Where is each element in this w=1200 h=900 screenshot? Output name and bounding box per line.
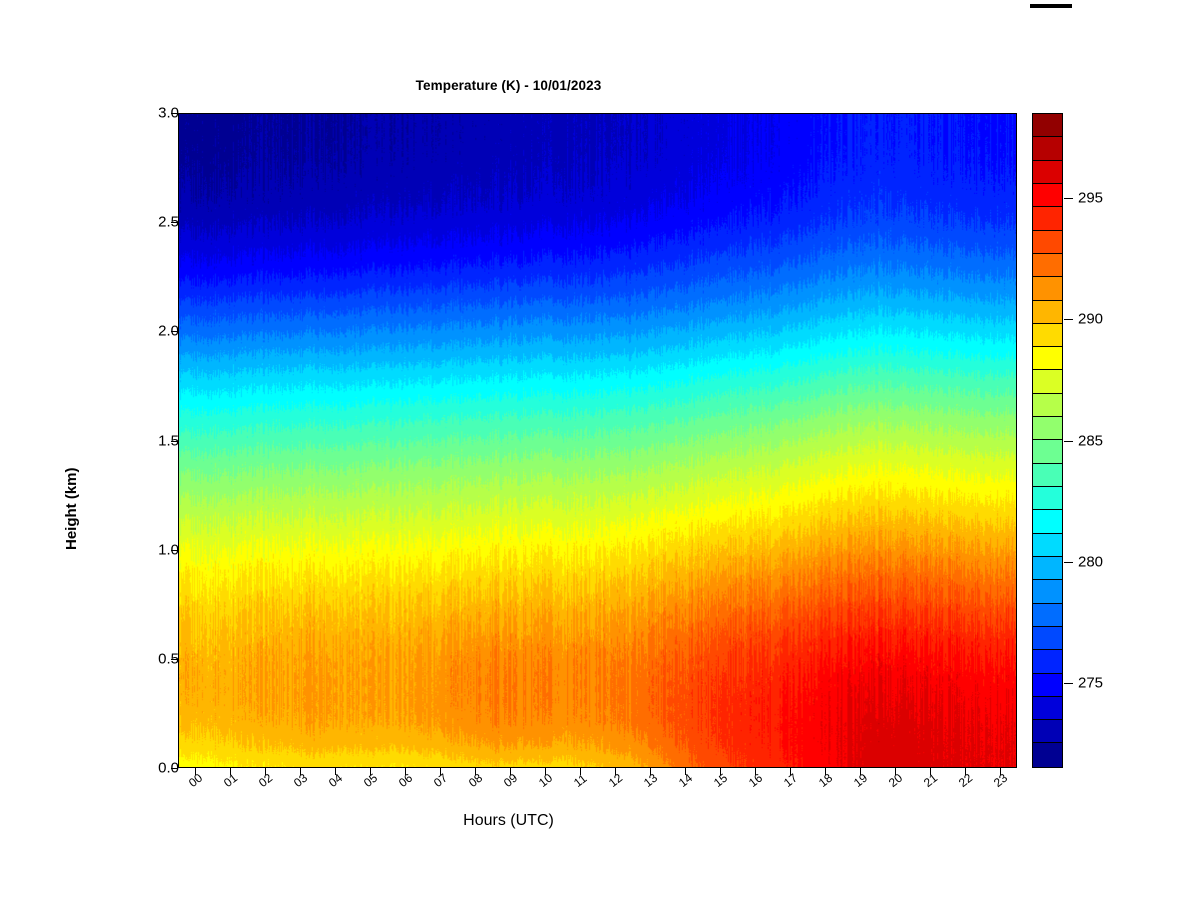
colorbar-block (1033, 674, 1062, 697)
x-tick-label: 15 (711, 771, 730, 790)
colorbar-block (1033, 231, 1062, 254)
corner-artifact (1030, 4, 1072, 8)
x-tick-label: 03 (291, 771, 310, 790)
colorbar-block (1033, 604, 1062, 627)
heatmap-canvas-wrapper (179, 114, 1016, 767)
y-tick-mark (171, 331, 178, 332)
colorbar-block (1033, 394, 1062, 417)
colorbar-block (1033, 161, 1062, 184)
x-tick-label: 17 (781, 771, 800, 790)
y-tick-mark (171, 550, 178, 551)
colorbar-block (1033, 487, 1062, 510)
colorbar-block (1033, 743, 1062, 766)
colorbar-block (1033, 580, 1062, 603)
y-tick-mark (171, 113, 178, 114)
colorbar-block (1033, 207, 1062, 230)
x-tick-label: 19 (851, 771, 870, 790)
y-axis-label: Height (km) (63, 468, 80, 551)
colorbar-block (1033, 464, 1062, 487)
colorbar-block (1033, 557, 1062, 580)
colorbar-block (1033, 324, 1062, 347)
heatmap-plot-area (178, 113, 1017, 768)
y-tick-mark (171, 222, 178, 223)
colorbar-tick-mark (1064, 319, 1073, 320)
x-tick-label: 11 (571, 771, 589, 790)
x-tick-label: 08 (466, 771, 485, 790)
colorbar-block (1033, 440, 1062, 463)
x-tick-label: 23 (991, 771, 1010, 790)
colorbar-tick-label: 295 (1078, 189, 1103, 206)
x-axis-label: Hours (UTC) (0, 812, 1017, 830)
colorbar (1032, 113, 1063, 768)
chart-figure: Temperature (K) - 10/01/2023 Height (km)… (0, 0, 1200, 900)
x-tick-label: 12 (606, 771, 625, 790)
colorbar-block (1033, 720, 1062, 743)
x-tick-label: 07 (431, 771, 450, 790)
y-tick-mark (171, 659, 178, 660)
colorbar-tick-label: 275 (1078, 675, 1103, 692)
colorbar-tick-mark (1064, 441, 1073, 442)
colorbar-block (1033, 137, 1062, 160)
colorbar-block (1033, 370, 1062, 393)
x-tick-label: 09 (501, 771, 520, 790)
colorbar-block (1033, 114, 1062, 137)
x-tick-label: 20 (886, 771, 905, 790)
x-tick-label: 04 (326, 771, 345, 790)
x-tick-label: 22 (956, 771, 975, 790)
colorbar-block (1033, 254, 1062, 277)
x-tick-label: 14 (676, 771, 695, 790)
colorbar-block (1033, 510, 1062, 533)
y-tick-mark (171, 768, 178, 769)
x-tick-label: 18 (816, 771, 835, 790)
colorbar-tick-label: 285 (1078, 432, 1103, 449)
colorbar-block (1033, 534, 1062, 557)
colorbar-block (1033, 301, 1062, 324)
x-tick-label: 06 (396, 771, 415, 790)
colorbar-tick-mark (1064, 683, 1073, 684)
colorbar-tick-mark (1064, 562, 1073, 563)
colorbar-block (1033, 627, 1062, 650)
x-tick-label: 02 (256, 771, 275, 790)
colorbar-block (1033, 417, 1062, 440)
chart-title: Temperature (K) - 10/01/2023 (0, 78, 1017, 93)
colorbar-block (1033, 697, 1062, 720)
x-tick-label: 13 (641, 771, 660, 790)
colorbar-block (1033, 347, 1062, 370)
x-tick-label: 05 (361, 771, 380, 790)
colorbar-block (1033, 277, 1062, 300)
colorbar-tick-mark (1064, 198, 1073, 199)
colorbar-tick-label: 290 (1078, 311, 1103, 328)
colorbar-tick-label: 280 (1078, 553, 1103, 570)
x-tick-label: 16 (746, 771, 765, 790)
x-tick-label: 00 (186, 771, 205, 790)
colorbar-block (1033, 650, 1062, 673)
x-tick-label: 21 (921, 771, 940, 790)
colorbar-block (1033, 184, 1062, 207)
x-tick-label: 10 (536, 771, 555, 790)
x-tick-label: 01 (221, 771, 240, 790)
heatmap-image (179, 114, 1016, 767)
y-tick-mark (171, 441, 178, 442)
